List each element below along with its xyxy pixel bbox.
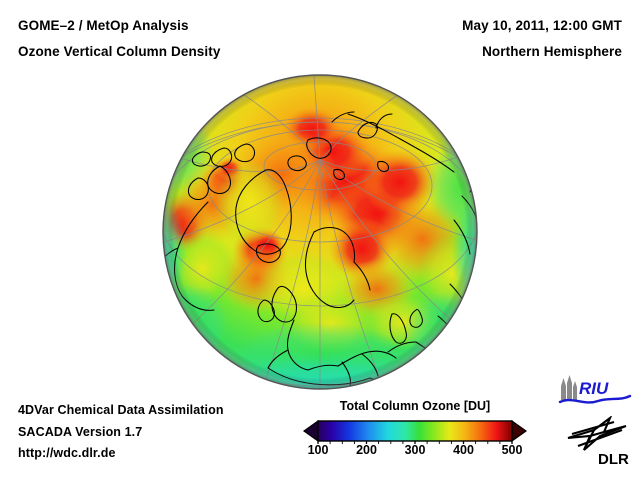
- observation-timestamp: May 10, 2011, 12:00 GMT: [462, 18, 622, 33]
- footer-credits: 4DVar Chemical Data Assimilation SACADA …: [18, 400, 224, 465]
- page-subtitle: Ozone Vertical Column Density: [18, 44, 220, 59]
- footer-line-method: 4DVar Chemical Data Assimilation: [18, 400, 224, 422]
- colorbar-tick-label: 200: [356, 443, 377, 457]
- header-row-secondary: Ozone Vertical Column Density Northern H…: [18, 44, 622, 59]
- colorbar-cap-high: [512, 421, 526, 441]
- colorbar-tick-label: 100: [308, 443, 329, 457]
- header-row-primary: GOME–2 / MetOp Analysis May 10, 2011, 12…: [18, 18, 622, 33]
- riu-logo: RIU: [558, 374, 632, 408]
- globe-limb-shading: [163, 75, 477, 389]
- colorbar-cap-low: [304, 421, 318, 441]
- footer-line-url[interactable]: http://wdc.dlr.de: [18, 443, 224, 465]
- dlr-logo-svg: DLR: [564, 416, 634, 468]
- footer-line-version: SACADA Version 1.7: [18, 422, 224, 444]
- colorbar-gradient: [318, 421, 512, 441]
- colorbar: Total Column Ozone [DU]: [300, 399, 530, 469]
- page-title: GOME–2 / MetOp Analysis: [18, 18, 189, 33]
- page-header: GOME–2 / MetOp Analysis May 10, 2011, 12…: [0, 0, 640, 66]
- dlr-logo: DLR: [564, 416, 634, 468]
- dlr-mark-icon: [568, 418, 626, 450]
- riu-logo-svg: RIU: [558, 374, 632, 408]
- colorbar-tick-labels: 100 200 300 400 500: [300, 443, 530, 463]
- colorbar-tick-label: 300: [405, 443, 426, 457]
- riu-spires-icon: [561, 375, 577, 400]
- riu-wordmark: RIU: [579, 379, 609, 398]
- colorbar-tick-label: 500: [502, 443, 523, 457]
- colorbar-tick-label: 400: [453, 443, 474, 457]
- colorbar-title: Total Column Ozone [DU]: [300, 399, 530, 413]
- hemisphere-label: Northern Hemisphere: [482, 44, 622, 59]
- globe-svg: [162, 74, 478, 390]
- dlr-wordmark: DLR: [598, 451, 629, 468]
- ozone-globe-map: [162, 74, 478, 390]
- colorbar-graphic: [300, 418, 530, 444]
